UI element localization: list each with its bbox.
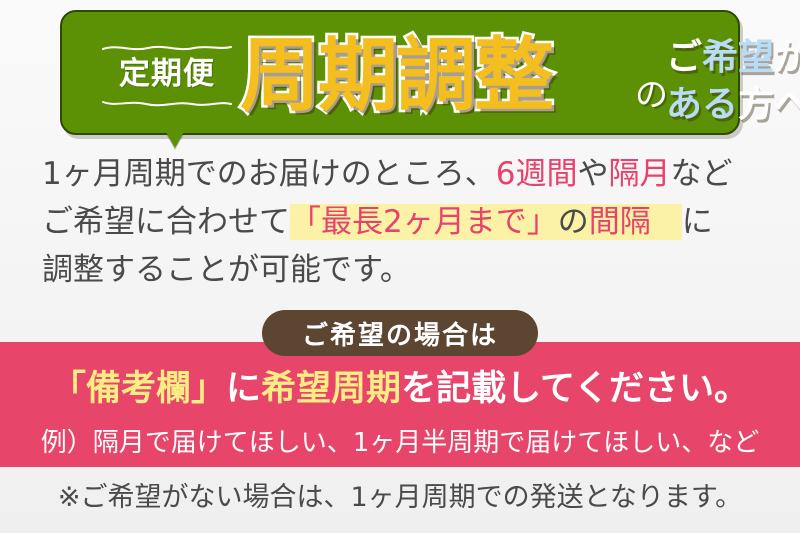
callout-pill-label: ご希望の場合は (302, 315, 498, 352)
description-line-1: 1ヶ月周期でのお届けのところ、6週間や隔月など (42, 150, 772, 198)
wave-rule-bottom-icon (102, 99, 232, 107)
description-seg: ご希望に合わせて (42, 204, 290, 240)
callout-seg: に (226, 369, 261, 409)
hero-subtitle-seg: が (774, 37, 800, 78)
description-seg-highlight: 間隔 (589, 204, 651, 240)
description-seg: 1ヶ月周期でのお届けのところ、 (42, 156, 496, 192)
subscription-badge: 定期便 (102, 44, 232, 107)
callout-pill: ご希望の場合は (262, 310, 538, 356)
hero-banner-region: 定期便 周期調整 の ご希望が ある方へ (0, 0, 800, 148)
description-seg: や (577, 156, 608, 192)
subscription-badge-label: 定期便 (102, 59, 232, 90)
hero-subtitle-seg: ご (666, 37, 702, 78)
callout-seg-highlight: 「備考欄」 (51, 369, 226, 409)
description-seg-highlight: 隔月 (608, 156, 670, 192)
description-line-2: ご希望に合わせて「最長2ヶ月まで」の間隔 に (42, 198, 772, 246)
callout-main-line: 「備考欄」に希望周期を記載してください。 (0, 366, 800, 412)
description-seg-highlight: 6週間 (496, 156, 578, 192)
description-seg: 調整することが可能です。 (42, 252, 411, 288)
callout-seg-highlight: 希望周期 (261, 369, 401, 409)
callout-example-line: 例）隔月で届けてほしい、1ヶ月半周期で届けてほしい、など (0, 424, 800, 462)
hero-subtitle-seg: 方へ (738, 84, 800, 125)
description-line-3: 調整することが可能です。 (42, 246, 772, 294)
description-seg-pad (651, 204, 682, 240)
hero-subtitle-seg: 希望 (702, 37, 774, 78)
hero-banner-tail-icon (166, 132, 184, 148)
hero-title: 周期調整 (240, 26, 552, 126)
callout-seg: を記載してください。 (401, 369, 749, 409)
hero-banner: 定期便 周期調整 の ご希望が ある方へ (60, 10, 740, 135)
description-seg: に (682, 204, 713, 240)
description-paragraph: 1ヶ月周期でのお届けのところ、6週間や隔月など ご希望に合わせて「最長2ヶ月まで… (42, 150, 772, 294)
hero-subtitle: ご希望が ある方へ (666, 34, 800, 128)
description-seg: の (558, 204, 589, 240)
hero-title-particle: の (635, 68, 668, 116)
banner-page: 定期便 周期調整 の ご希望が ある方へ 1ヶ月周期でのお届けのところ、6週間や… (0, 0, 800, 533)
hero-subtitle-seg: ある (666, 84, 738, 125)
description-seg: など (670, 156, 732, 192)
wave-rule-top-icon (102, 44, 232, 52)
hero-subtitle-line-1: ご希望が (666, 34, 800, 81)
hero-subtitle-line-2: ある方へ (666, 81, 800, 128)
description-seg-highlight: 「最長2ヶ月まで」 (290, 204, 558, 240)
footer-note: ※ご希望がない場合は、1ヶ月周期での発送となります。 (0, 476, 800, 520)
